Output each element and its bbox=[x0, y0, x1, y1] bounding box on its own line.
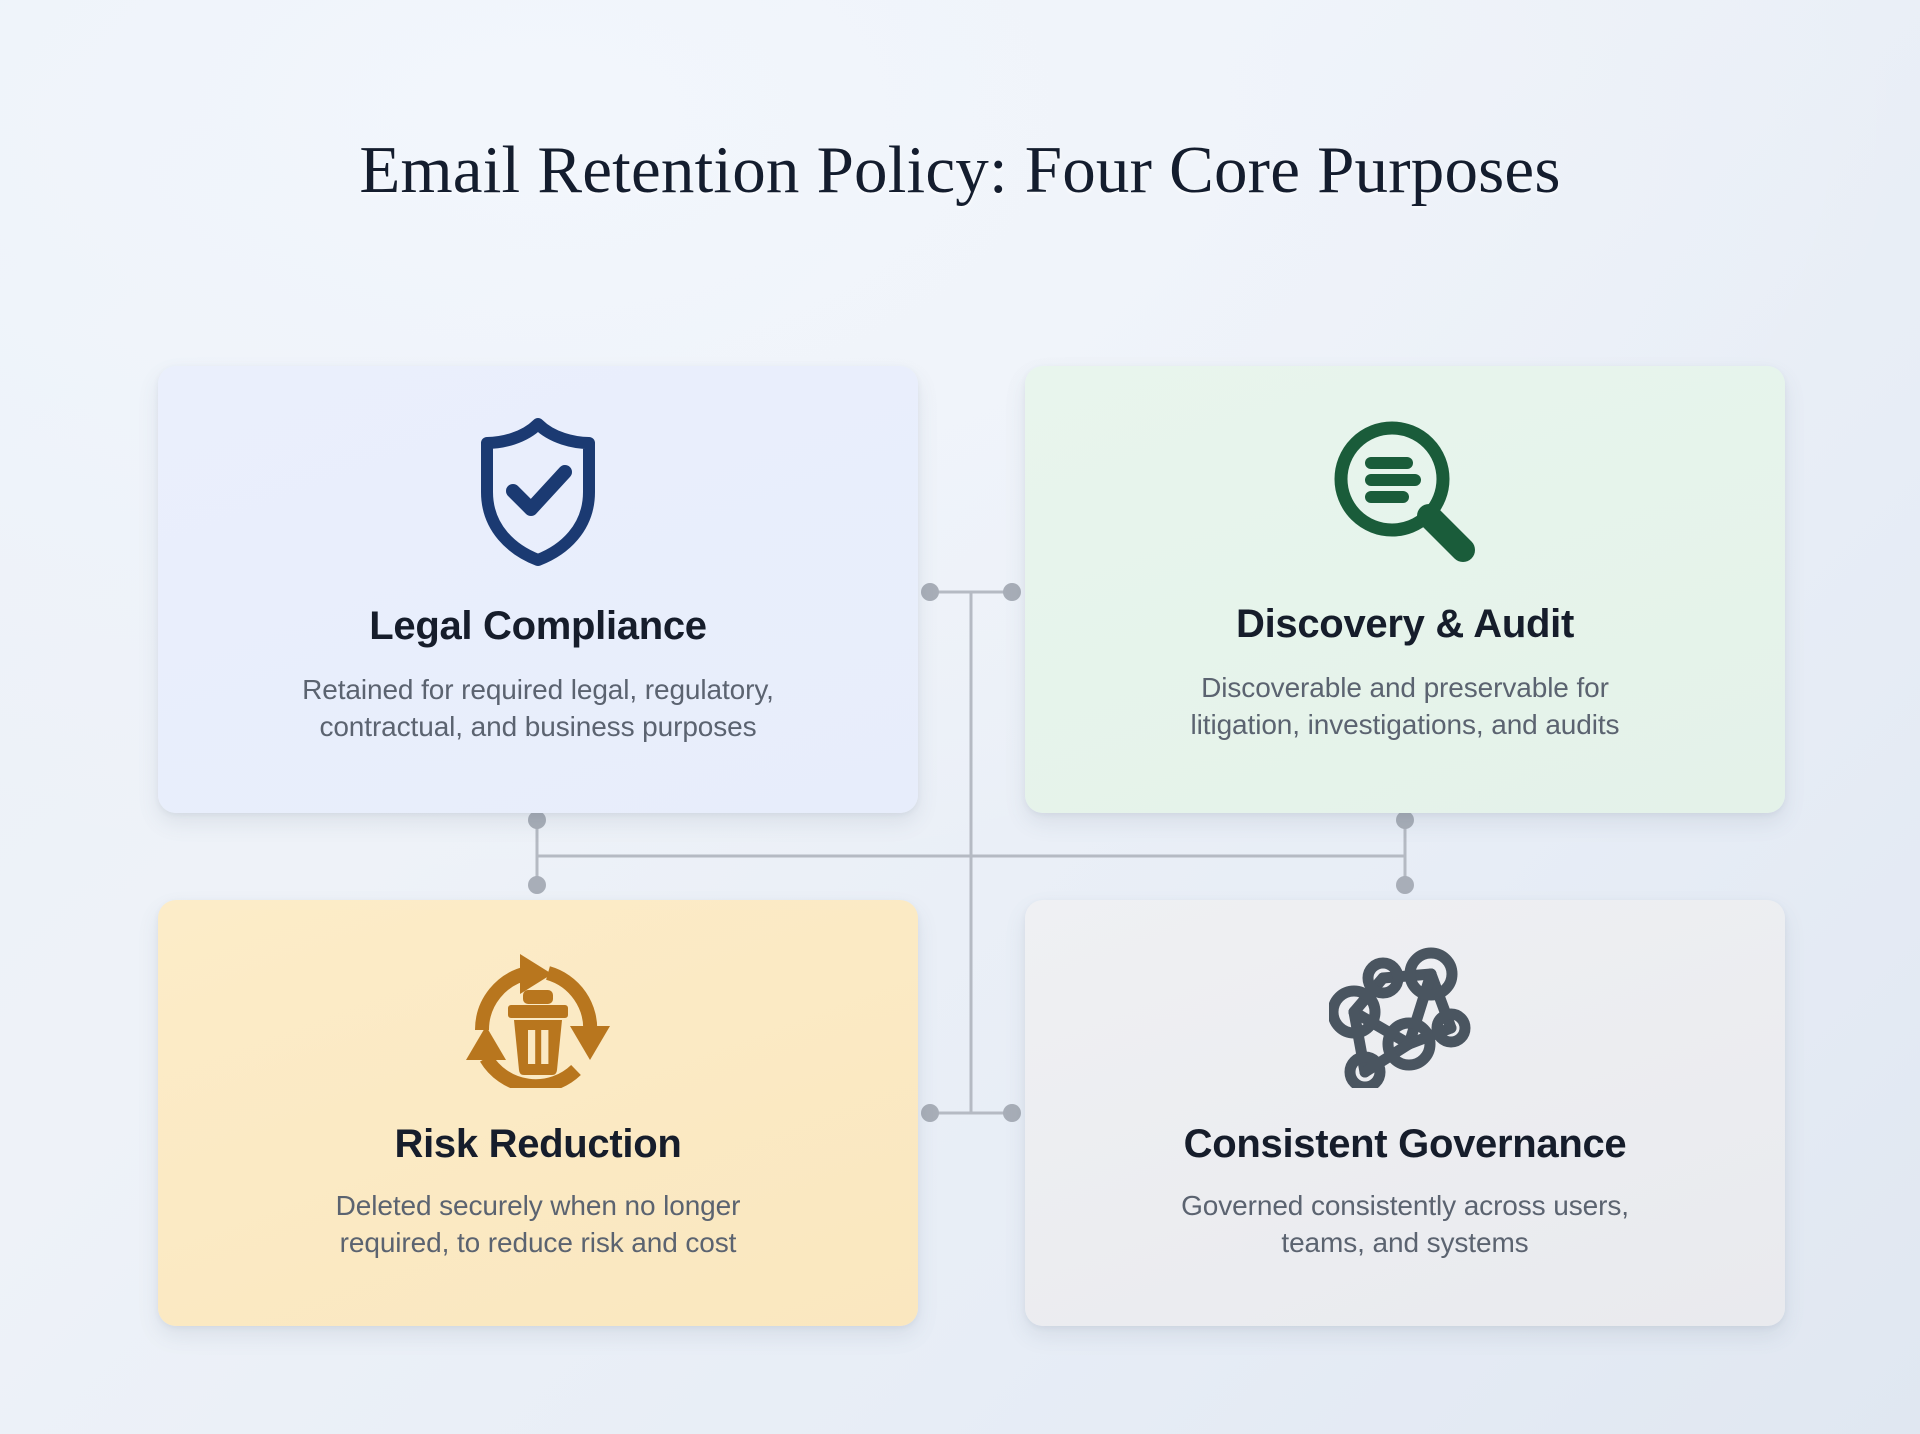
connector-dot-top-left bbox=[921, 583, 939, 601]
connector-dot-bottom-left bbox=[921, 1104, 939, 1122]
card-risk-reduction[interactable]: Risk Reduction Deleted securely when no … bbox=[158, 900, 918, 1326]
card-title-risk-reduction: Risk Reduction bbox=[395, 1122, 682, 1167]
card-desc-line-1: Discoverable and preservable for bbox=[1060, 669, 1750, 706]
connector-dot-mid-right-lower bbox=[1396, 876, 1414, 894]
card-description-discovery-audit: Discoverable and preservable for litigat… bbox=[1060, 669, 1750, 743]
card-desc-line-2: contractual, and business purposes bbox=[198, 708, 878, 745]
card-title-legal-compliance: Legal Compliance bbox=[369, 604, 707, 649]
shield-check-icon bbox=[470, 416, 606, 568]
connector-dot-mid-left-upper bbox=[528, 811, 546, 829]
card-description-risk-reduction: Deleted securely when no longer required… bbox=[198, 1187, 878, 1261]
connector-dot-bottom-right bbox=[1003, 1104, 1021, 1122]
card-description-consistent-governance: Governed consistently across users, team… bbox=[1060, 1187, 1750, 1261]
card-consistent-governance[interactable]: Consistent Governance Governed consisten… bbox=[1025, 900, 1785, 1326]
card-desc-line-1: Deleted securely when no longer bbox=[198, 1187, 878, 1224]
connector-dot-top-right bbox=[1003, 583, 1021, 601]
magnifier-document-icon bbox=[1329, 416, 1481, 566]
connector-dot-mid-right-upper bbox=[1396, 811, 1414, 829]
card-desc-line-1: Governed consistently across users, bbox=[1060, 1187, 1750, 1224]
card-desc-line-2: teams, and systems bbox=[1060, 1224, 1750, 1261]
card-title-discovery-audit: Discovery & Audit bbox=[1236, 602, 1574, 647]
card-title-consistent-governance: Consistent Governance bbox=[1184, 1122, 1627, 1167]
card-desc-line-1: Retained for required legal, regulatory, bbox=[198, 671, 878, 708]
card-desc-line-2: litigation, investigations, and audits bbox=[1060, 706, 1750, 743]
diagram-canvas: Email Retention Policy: Four Core Purpos… bbox=[0, 0, 1920, 1434]
card-legal-compliance[interactable]: Legal Compliance Retained for required l… bbox=[158, 366, 918, 813]
card-desc-line-2: required, to reduce risk and cost bbox=[198, 1224, 878, 1261]
page-title: Email Retention Policy: Four Core Purpos… bbox=[0, 132, 1920, 209]
network-nodes-icon bbox=[1329, 946, 1481, 1088]
card-discovery-audit[interactable]: Discovery & Audit Discoverable and prese… bbox=[1025, 366, 1785, 813]
recycle-trash-icon bbox=[462, 946, 614, 1088]
connector-dot-mid-left-lower bbox=[528, 876, 546, 894]
card-description-legal-compliance: Retained for required legal, regulatory,… bbox=[198, 671, 878, 745]
